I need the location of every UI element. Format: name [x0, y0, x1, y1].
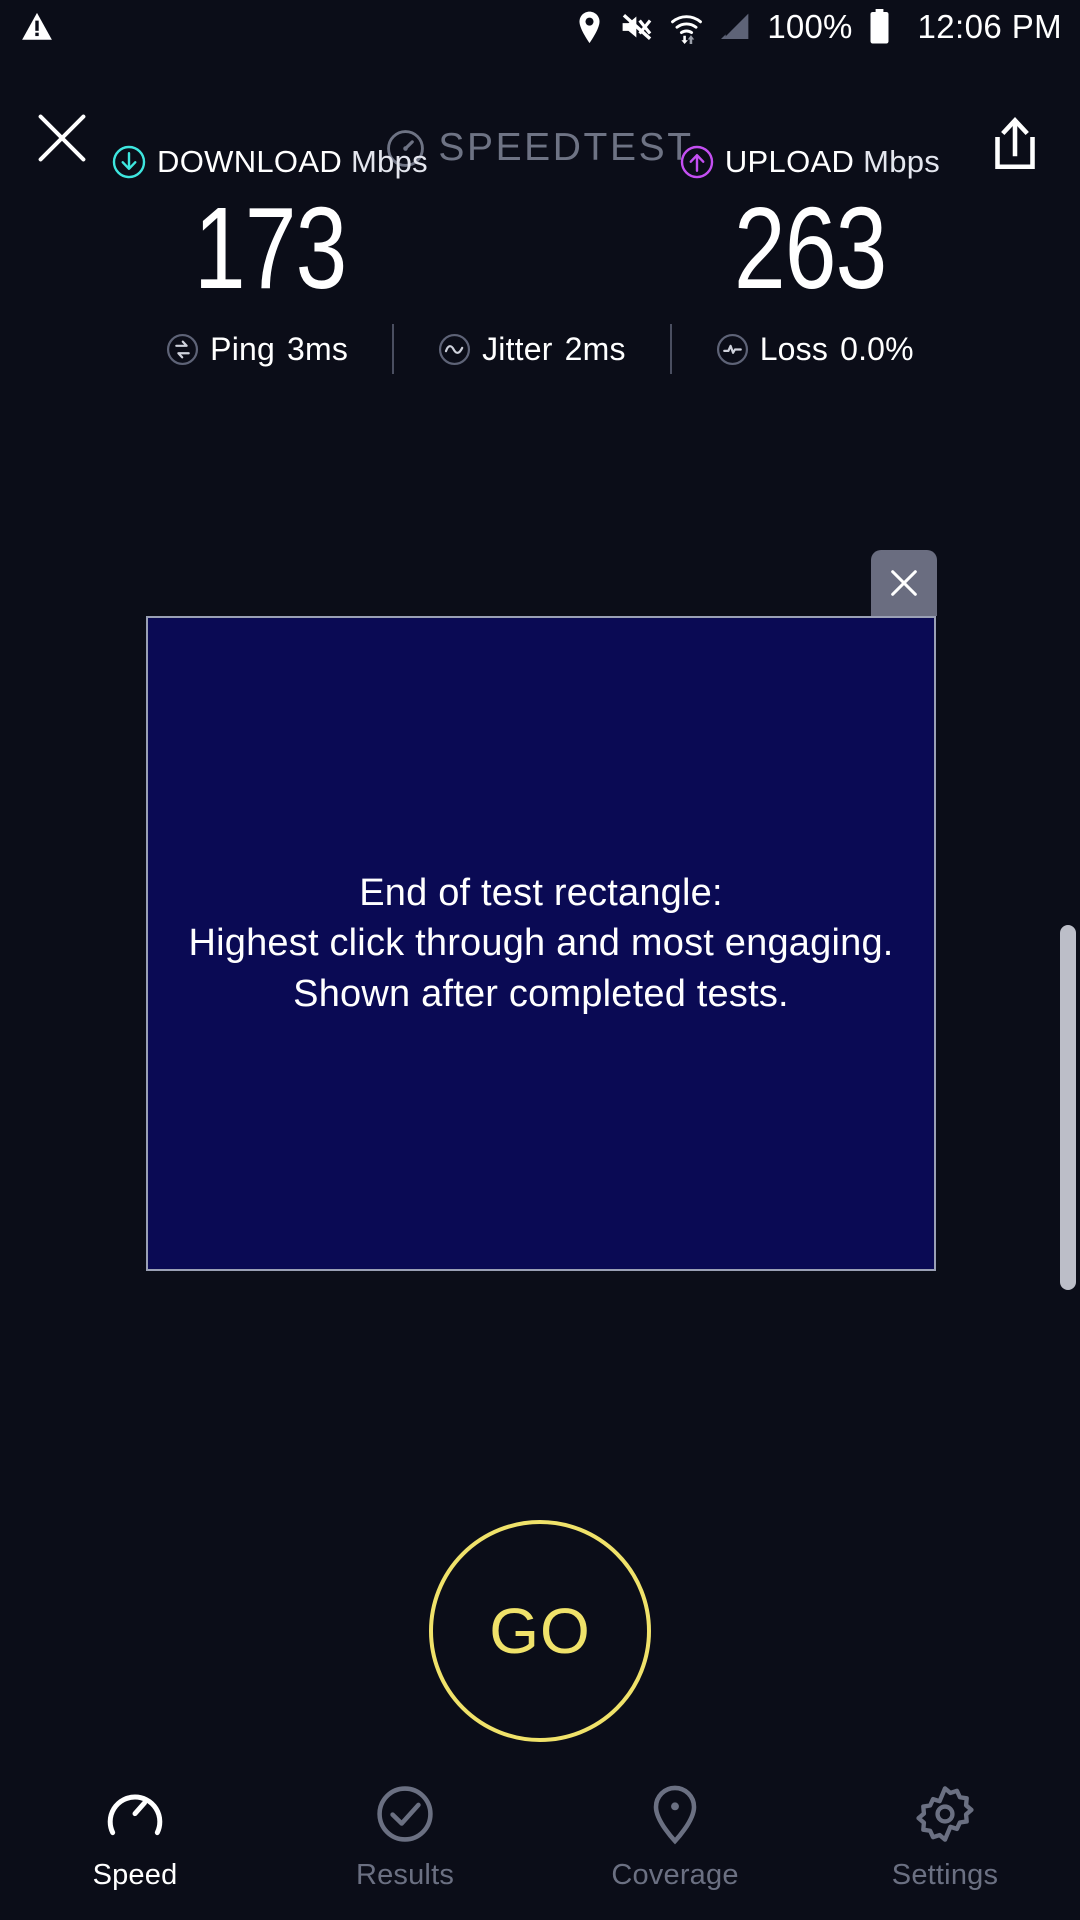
download-metric: DOWNLOAD Mbps 173 — [0, 140, 540, 306]
ad-close-button[interactable] — [871, 550, 937, 616]
jitter-metric: Jitter2ms — [438, 331, 626, 368]
speedometer-icon — [104, 1783, 166, 1845]
nav-item-results[interactable]: Results — [270, 1783, 540, 1892]
nav-item-coverage[interactable]: Coverage — [540, 1783, 810, 1892]
loss-metric: Loss0.0% — [716, 331, 914, 368]
ad-text: End of test rectangle: Highest click thr… — [188, 868, 893, 1020]
upload-metric: UPLOAD Mbps 263 — [540, 140, 1080, 306]
battery-percent-label: 100% — [767, 8, 852, 46]
gear-icon — [914, 1783, 976, 1845]
speedtest-app-screen: 100% 12:06 PM SPEEDTEST — [0, 0, 1080, 1920]
ping-text: Ping3ms — [210, 331, 348, 368]
nav-label-settings: Settings — [892, 1859, 998, 1892]
nav-label-results: Results — [356, 1859, 454, 1892]
upload-metric-header: UPLOAD Mbps — [680, 140, 940, 184]
divider — [670, 324, 672, 374]
ad-line-2: Highest click through and most engaging. — [188, 918, 893, 969]
volume-mute-icon — [620, 12, 654, 42]
close-icon — [887, 566, 921, 600]
wifi-transfer-icon — [670, 11, 703, 44]
warning-triangle-icon — [20, 10, 54, 44]
clock-label: 12:06 PM — [918, 8, 1062, 46]
battery-full-icon — [869, 9, 890, 45]
nav-item-speed[interactable]: Speed — [0, 1783, 270, 1892]
location-pin-icon — [575, 11, 604, 44]
jitter-icon — [438, 333, 471, 366]
network-quality-row: Ping3ms Jitter2ms — [0, 324, 1080, 374]
jitter-text: Jitter2ms — [482, 331, 626, 368]
test-results-panel: DOWNLOAD Mbps 173 UPLOAD Mbps 263 — [0, 140, 1080, 374]
bottom-navigation: Speed Results Coverage Settings — [0, 1775, 1080, 1920]
nav-item-settings[interactable]: Settings — [810, 1783, 1080, 1892]
download-metric-header: DOWNLOAD Mbps — [112, 140, 428, 184]
check-circle-icon — [374, 1783, 436, 1845]
status-bar-right: 100% 12:06 PM — [575, 8, 1062, 46]
ad-line-3: Shown after completed tests. — [188, 969, 893, 1020]
cellular-signal-icon — [719, 12, 751, 42]
status-bar-left — [20, 10, 54, 44]
go-button-label: GO — [489, 1594, 591, 1668]
loss-text: Loss0.0% — [760, 331, 914, 368]
download-value: 173 — [194, 190, 346, 306]
nav-label-coverage: Coverage — [611, 1859, 738, 1892]
divider — [392, 324, 394, 374]
nav-label-speed: Speed — [93, 1859, 178, 1892]
ping-icon — [166, 333, 199, 366]
speed-metrics-row: DOWNLOAD Mbps 173 UPLOAD Mbps 263 — [0, 140, 1080, 306]
ad-line-1: End of test rectangle: — [188, 868, 893, 919]
vertical-scrollbar[interactable] — [1060, 925, 1076, 1290]
arrow-up-circle-icon — [680, 145, 714, 179]
location-pin-icon — [644, 1783, 706, 1845]
ping-metric: Ping3ms — [166, 331, 348, 368]
upload-label: UPLOAD Mbps — [725, 144, 940, 180]
app-header: SPEEDTEST — [0, 54, 1080, 150]
upload-value: 263 — [734, 190, 886, 306]
ad-banner[interactable]: End of test rectangle: Highest click thr… — [146, 616, 936, 1271]
status-bar: 100% 12:06 PM — [0, 0, 1080, 54]
loss-icon — [716, 333, 749, 366]
arrow-down-circle-icon — [112, 145, 146, 179]
download-label: DOWNLOAD Mbps — [157, 144, 428, 180]
go-button[interactable]: GO — [429, 1520, 651, 1742]
